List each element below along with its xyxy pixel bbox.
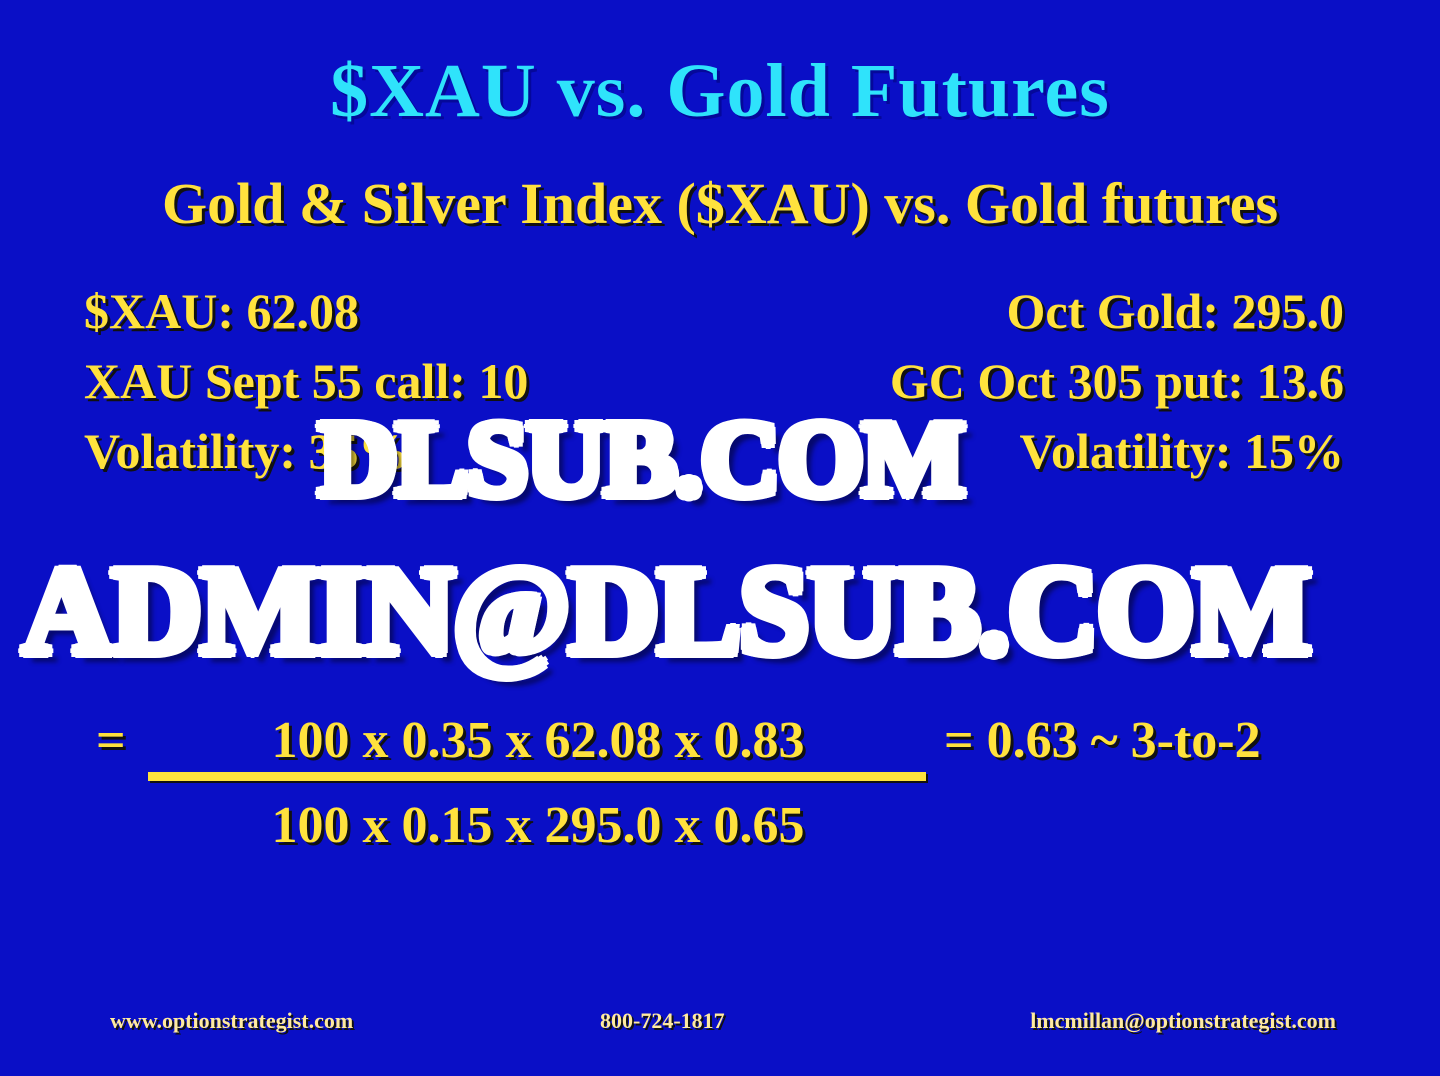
watermark-site: DLSUB.COM xyxy=(318,398,964,522)
footer-website: www.optionstrategist.com xyxy=(110,1008,353,1034)
formula-denominator: 100 x 0.15 x 295.0 x 0.65 xyxy=(150,795,926,857)
footer-email: lmcmillan@optionstrategist.com xyxy=(1030,1008,1336,1034)
page-title: $XAU vs. Gold Futures xyxy=(0,48,1440,135)
slide-footer: www.optionstrategist.com 800-724-1817 lm… xyxy=(0,1008,1440,1042)
formula-equals-sign: = xyxy=(96,710,126,772)
formula-result: = 0.63 ~ 3-to-2 xyxy=(944,710,1261,772)
data-row: $XAU: 62.08 Oct Gold: 295.0 xyxy=(0,280,1440,348)
xau-price-label: $XAU: 62.08 xyxy=(84,280,359,342)
footer-phone: 800-724-1817 xyxy=(600,1008,725,1034)
ratio-formula: = 100 x 0.35 x 62.08 x 0.83 100 x 0.15 x… xyxy=(0,710,1440,890)
slide-subtitle: Gold & Silver Index ($XAU) vs. Gold futu… xyxy=(0,170,1440,237)
fraction-bar xyxy=(148,772,926,781)
gold-volatility-label: Volatility: 15% xyxy=(1019,420,1344,482)
formula-numerator: 100 x 0.35 x 62.08 x 0.83 xyxy=(150,710,926,772)
gold-price-label: Oct Gold: 295.0 xyxy=(1007,280,1344,342)
presentation-slide: $XAU vs. Gold Futures Gold & Silver Inde… xyxy=(0,0,1440,1076)
watermark-email: ADMIN@DLSUB.COM xyxy=(22,540,1310,684)
